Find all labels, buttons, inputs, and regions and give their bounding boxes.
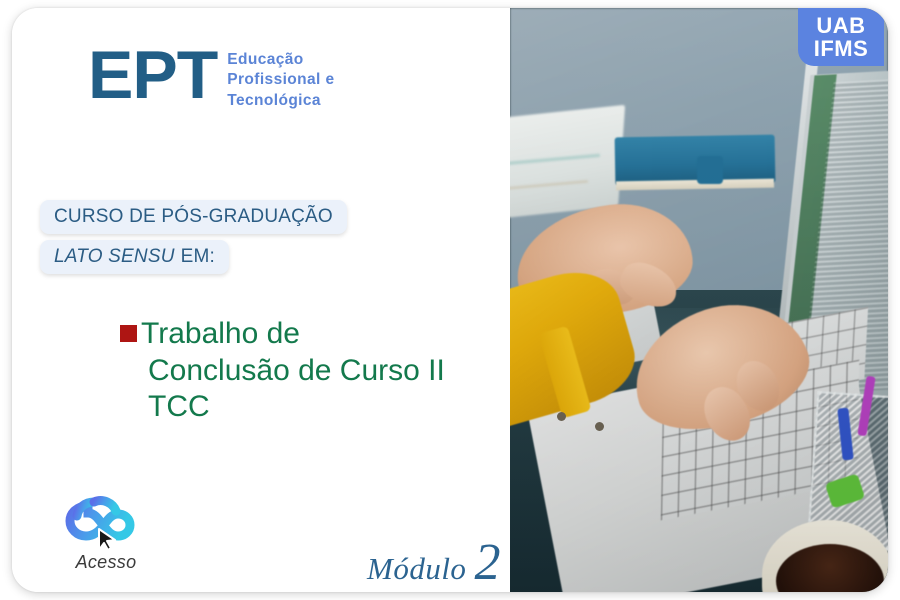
pill-curso-pos-graduacao: CURSO DE PÓS-GRADUAÇÃO — [40, 200, 347, 234]
ept-subtitle-line-2: Profissional e — [227, 70, 334, 90]
modulo-indicator: Módulo 2 — [367, 542, 500, 587]
badge-line-ifms: IFMS — [814, 37, 869, 60]
ept-subtitle-line-1: Educação — [227, 50, 334, 70]
pill-lato-sensu-italic: LATO SENSU — [54, 246, 175, 268]
course-title-line-3: TCC — [148, 389, 500, 426]
content-pane: EPT Educação Profissional e Tecnológica … — [12, 8, 510, 592]
pill-curso-label: CURSO DE PÓS-GRADUAÇÃO — [54, 206, 333, 228]
slide-card: EPT Educação Profissional e Tecnológica … — [12, 8, 888, 592]
badge-line-uab: UAB — [816, 14, 865, 37]
uab-ifms-badge: UAB IFMS — [798, 8, 884, 66]
modulo-number: 2 — [474, 542, 500, 584]
photo-sleeve-button-b — [595, 422, 604, 431]
acesso-label: Acesso — [56, 552, 156, 573]
course-title: Trabalho de Conclusão de Curso II TCC — [120, 316, 500, 426]
photo-notebook-clasp — [697, 156, 723, 184]
photo-sleeve-button-a — [557, 412, 566, 421]
ept-subtitle-line-3: Tecnológica — [227, 91, 334, 111]
ept-logo-subtitle: Educação Profissional e Tecnológica — [227, 50, 334, 111]
course-title-line-1: Trabalho de — [120, 316, 500, 353]
course-title-text-1: Trabalho de — [141, 317, 300, 350]
photo-composition — [510, 8, 888, 592]
slide-root: EPT Educação Profissional e Tecnológica … — [0, 0, 900, 600]
pill-lato-sensu: LATO SENSU EM: — [40, 240, 229, 274]
hands-typing-on-laptop-photo: UAB IFMS — [510, 8, 888, 592]
pill-lato-sensu-rest: EM: — [181, 246, 215, 268]
photo-blue-notebook — [615, 135, 776, 186]
modulo-word: Módulo — [367, 551, 466, 587]
ept-logo: EPT Educação Profissional e Tecnológica — [88, 44, 335, 111]
course-title-line-2: Conclusão de Curso II — [148, 353, 500, 390]
acesso-logo: Acesso — [56, 492, 156, 573]
ept-logo-mark: EPT — [88, 44, 217, 107]
red-square-bullet-icon — [120, 325, 137, 342]
acesso-cloud-infinity-cursor-icon — [63, 492, 149, 550]
